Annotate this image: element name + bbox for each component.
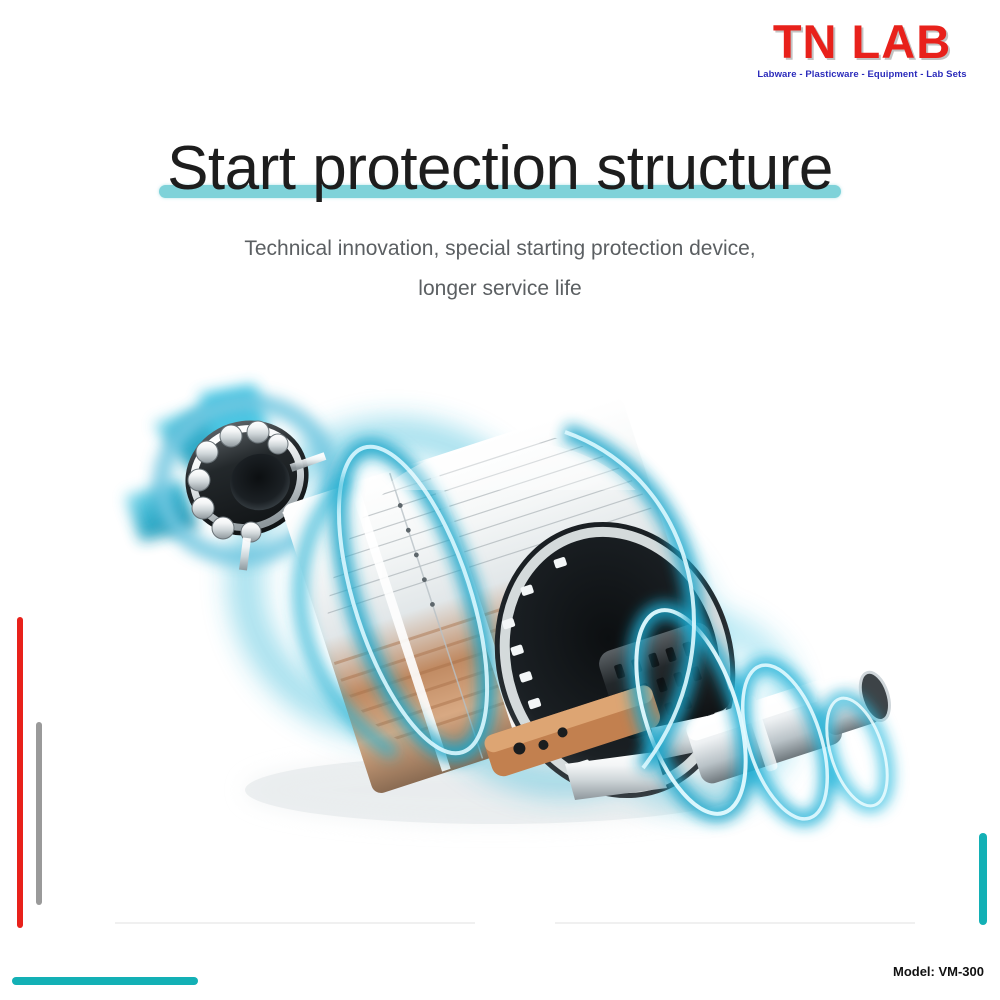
hairline-divider-right — [555, 922, 915, 924]
headline-block: Start protection structure — [0, 136, 1000, 203]
subtitle-line-2: longer service life — [0, 278, 1000, 299]
accent-bar-teal-right — [979, 833, 987, 925]
brand-name: TN LAB — [742, 18, 982, 65]
headline-wrapper: Start protection structure — [159, 136, 841, 203]
brand-logo: TN LAB Labware - Plasticware - Equipment… — [742, 18, 982, 80]
brand-tagline: Labware - Plasticware - Equipment - Lab … — [742, 69, 982, 80]
accent-bar-red — [17, 617, 23, 928]
product-feature-slide: TN LAB Labware - Plasticware - Equipment… — [0, 0, 1000, 1000]
motor-illustration — [95, 360, 915, 860]
hairline-divider-left — [115, 922, 475, 924]
model-caption: Model: VM-300 — [893, 964, 984, 979]
subtitle-line-1: Technical innovation, special starting p… — [0, 238, 1000, 259]
subtitle-block: Technical innovation, special starting p… — [0, 238, 1000, 318]
page-title: Start protection structure — [167, 134, 833, 203]
accent-bar-gray — [36, 722, 42, 905]
accent-bar-teal-bottom — [12, 977, 198, 985]
